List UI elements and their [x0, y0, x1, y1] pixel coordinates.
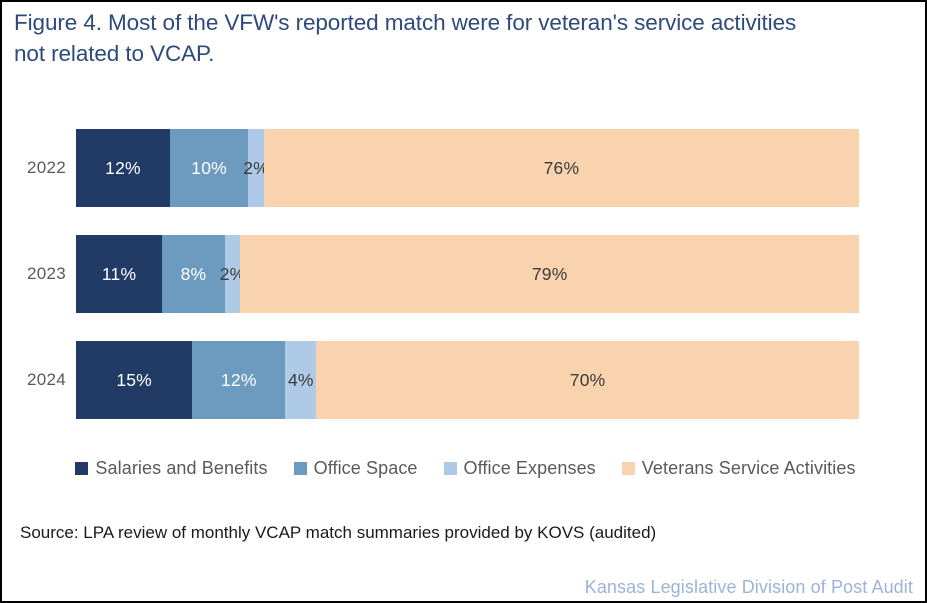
- legend-swatch-icon: [622, 462, 635, 475]
- bar-row: 202415%12%4%70%: [2, 341, 927, 419]
- legend-label: Office Space: [314, 458, 418, 479]
- bar-segment: 70%: [316, 341, 859, 419]
- bar-segment-value: 10%: [191, 158, 227, 179]
- bar-row: 202212%10%2%76%: [2, 129, 927, 207]
- bar-segment-value: 76%: [544, 158, 580, 179]
- chart-legend: Salaries and BenefitsOffice SpaceOffice …: [2, 458, 927, 479]
- stacked-bar: 15%12%4%70%: [76, 341, 859, 419]
- bar-segment: 76%: [264, 129, 859, 207]
- chart-plot-area: 202212%10%2%76%202311%8%2%79%202415%12%4…: [2, 115, 927, 445]
- bar-segment: 79%: [240, 235, 859, 313]
- figure-title-line-2: not related to VCAP.: [14, 38, 914, 69]
- bar-segment-value: 4%: [288, 370, 314, 391]
- category-label: 2024: [2, 341, 66, 419]
- legend-item[interactable]: Office Expenses: [444, 458, 596, 479]
- bar-segment: 2%: [225, 235, 241, 313]
- bar-segment-value: 79%: [532, 264, 568, 285]
- bar-segment-value: 12%: [105, 158, 141, 179]
- source-note: Source: LPA review of monthly VCAP match…: [20, 523, 656, 543]
- bar-segment-value: 15%: [116, 370, 152, 391]
- bar-segment: 12%: [76, 129, 170, 207]
- legend-item[interactable]: Salaries and Benefits: [75, 458, 267, 479]
- figure-container: Figure 4. Most of the VFW's reported mat…: [0, 0, 927, 603]
- legend-item[interactable]: Veterans Service Activities: [622, 458, 856, 479]
- bar-row: 202311%8%2%79%: [2, 235, 927, 313]
- category-label: 2023: [2, 235, 66, 313]
- bar-segment: 15%: [76, 341, 192, 419]
- legend-swatch-icon: [294, 462, 307, 475]
- legend-swatch-icon: [444, 462, 457, 475]
- stacked-bar: 12%10%2%76%: [76, 129, 859, 207]
- stacked-bar: 11%8%2%79%: [76, 235, 859, 313]
- bar-segment: 8%: [162, 235, 225, 313]
- bar-segment-value: 12%: [221, 370, 257, 391]
- bar-segment: 12%: [192, 341, 285, 419]
- bar-segment: 11%: [76, 235, 162, 313]
- agency-footer: Kansas Legislative Division of Post Audi…: [585, 577, 913, 598]
- bar-segment-value: 8%: [181, 264, 207, 285]
- legend-label: Office Expenses: [464, 458, 596, 479]
- bar-segment-value: 70%: [570, 370, 606, 391]
- legend-swatch-icon: [75, 462, 88, 475]
- category-label: 2022: [2, 129, 66, 207]
- figure-title-line-1: Figure 4. Most of the VFW's reported mat…: [14, 7, 914, 38]
- bar-segment: 4%: [285, 341, 316, 419]
- legend-label: Veterans Service Activities: [642, 458, 856, 479]
- legend-item[interactable]: Office Space: [294, 458, 418, 479]
- figure-title: Figure 4. Most of the VFW's reported mat…: [14, 7, 914, 69]
- bar-segment: 10%: [170, 129, 248, 207]
- legend-label: Salaries and Benefits: [95, 458, 267, 479]
- bar-segment: 2%: [248, 129, 264, 207]
- bar-segment-value: 11%: [102, 264, 136, 285]
